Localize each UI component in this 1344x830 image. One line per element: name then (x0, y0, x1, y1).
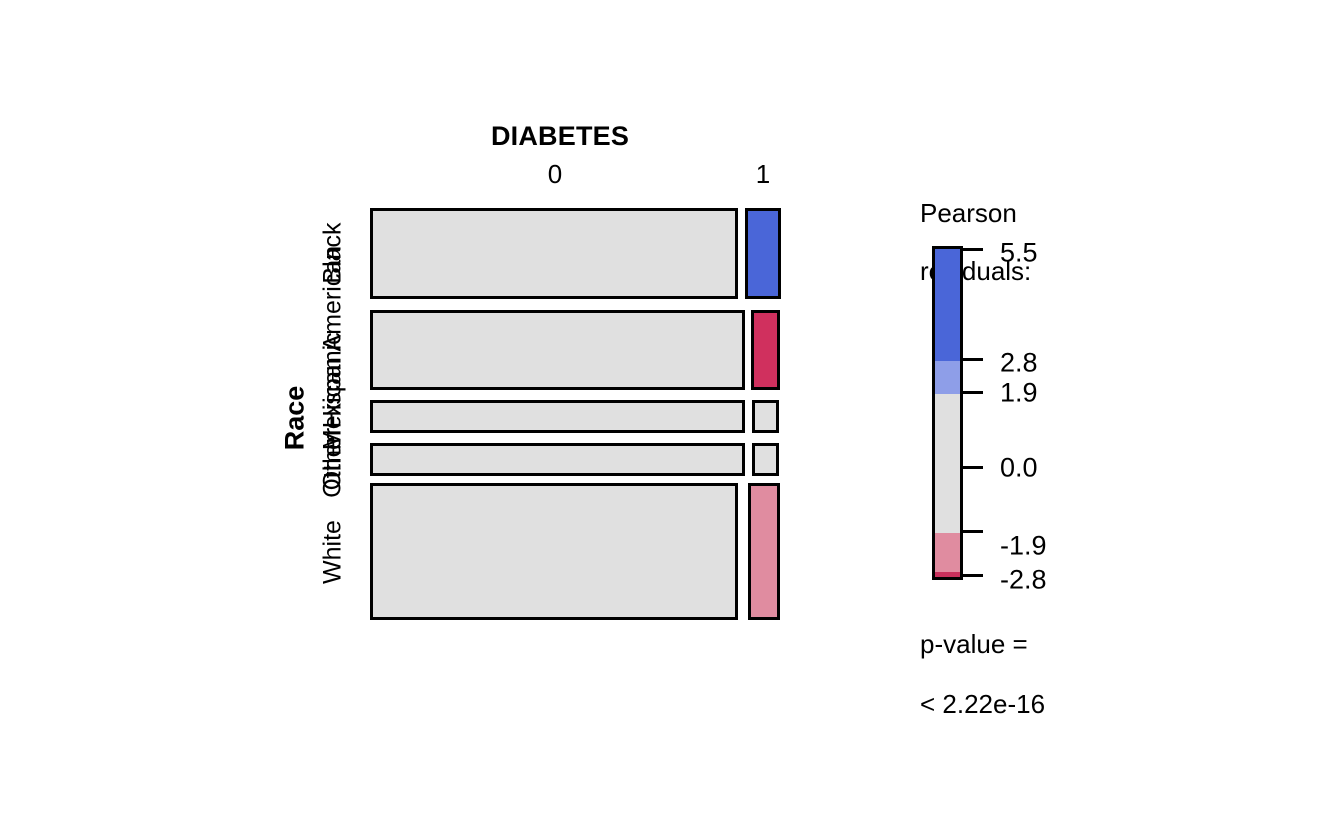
legend-segment-strong-negative (935, 572, 960, 577)
legend-title-line1: Pearson (920, 199, 1031, 228)
legend-tick-label-5-5: 5.5 (1000, 238, 1038, 269)
column-tick-label-1: 1 (733, 159, 793, 190)
mosaic-tile-other-0 (370, 443, 745, 476)
mosaic-tile-other-1 (752, 443, 779, 476)
pvalue-line2: < 2.22e-16 (920, 690, 1045, 720)
mosaic-tile-white-0 (370, 483, 738, 620)
mosaic-tile-other-hispanic-1 (752, 400, 779, 433)
mosaic-tile-white-1 (748, 483, 780, 620)
legend-color-bar (932, 246, 963, 580)
legend-segment-moderate-positive (935, 361, 960, 394)
mosaic-plot: DIABETES 0 1 Race Black Mexican American… (0, 0, 1344, 830)
mosaic-tile-black-1 (745, 208, 781, 299)
legend-tick-label-0-0: 0.0 (1000, 453, 1038, 484)
row-variable-label: Race (280, 368, 311, 468)
mosaic-tile-black-0 (370, 208, 738, 299)
pvalue-line1: p-value = (920, 630, 1045, 660)
legend-segment-neutral (935, 394, 960, 533)
pvalue-annotation: p-value = < 2.22e-16 (920, 600, 1045, 749)
legend-tick-label-neg-2-8: -2.8 (1000, 565, 1047, 596)
legend-segment-strong-positive (935, 249, 960, 361)
legend-tick-mark-5-5 (961, 248, 983, 251)
mosaic-tile-other-hispanic-0 (370, 400, 745, 433)
legend-tick-mark-2-8 (961, 358, 983, 361)
legend-tick-mark-neg-1-9 (961, 530, 983, 533)
column-variable-label: DIABETES (0, 121, 1120, 152)
legend-tick-mark-1-9 (961, 391, 983, 394)
row-tick-label-white: White (321, 352, 346, 752)
legend-tick-label-neg-1-9: -1.9 (1000, 531, 1047, 562)
legend-tick-mark-neg-2-8 (961, 574, 983, 577)
legend-segment-moderate-negative (935, 533, 960, 572)
legend-tick-label-2-8: 2.8 (1000, 348, 1038, 379)
mosaic-tile-mexican-american-0 (370, 310, 745, 390)
legend-tick-label-1-9: 1.9 (1000, 378, 1038, 409)
legend-tick-mark-0-0 (961, 466, 983, 469)
column-tick-label-0: 0 (525, 159, 585, 190)
mosaic-tile-mexican-american-1 (751, 310, 780, 390)
